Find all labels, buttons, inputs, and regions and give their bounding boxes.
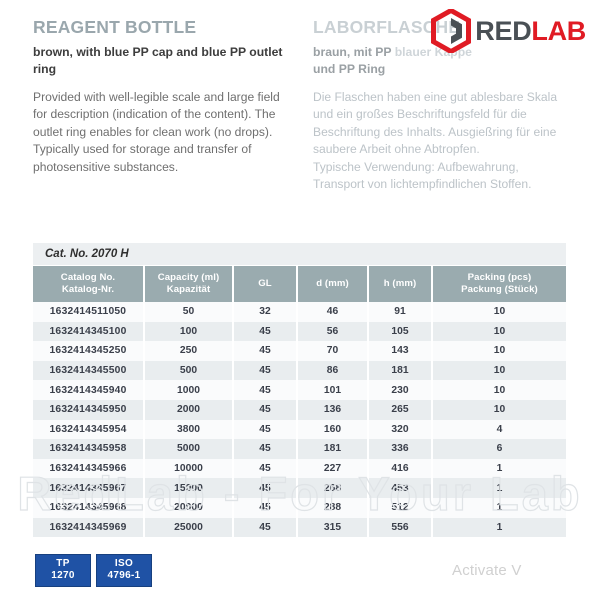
table-cell-2: 45 [233,478,297,498]
table-cell-1: 20000 [144,498,233,518]
logo-word-red: RED [475,16,531,46]
table-cell-3: 268 [297,478,368,498]
table-cell-1: 50 [144,302,233,322]
table-cell-1: 100 [144,322,233,342]
table-row: 16324143459585000451813366 [33,439,566,459]
table-cell-0: 1632414511050 [33,302,144,322]
table-row: 163241434596715000452684531 [33,478,566,498]
catalog-page: RedLab - For Your Lab REDLAB REAGENT BOT… [0,0,600,600]
table-cell-4: 91 [368,302,432,322]
table-column-header-5: Packing (pcs)Packung (Stück) [432,266,566,302]
table-cell-5: 1 [432,478,566,498]
table-cell-0: 1632414345958 [33,439,144,459]
product-description-en: Provided with well-legible scale and lar… [33,89,287,176]
table-column-header-1: Capacity (ml)Kapazität [144,266,233,302]
table-cell-0: 1632414345966 [33,459,144,479]
table-column-header-4: h (mm) [368,266,432,302]
table-cell-1: 1000 [144,380,233,400]
table-cell-4: 320 [368,420,432,440]
table-cell-5: 6 [432,439,566,459]
table-header-row: Catalog No.Katalog-Nr.Capacity (ml)Kapaz… [33,266,566,302]
table-cell-4: 336 [368,439,432,459]
table-cell-5: 10 [432,322,566,342]
table-column-header-0: Catalog No.Katalog-Nr. [33,266,144,302]
table-header: Catalog No.Katalog-Nr.Capacity (ml)Kapaz… [33,266,566,302]
table-cell-2: 45 [233,459,297,479]
specification-table: Cat. No. 2070 H Catalog No.Katalog-Nr.Ca… [33,243,566,537]
table-row: 163241434594010004510123010 [33,380,566,400]
table-cell-5: 1 [432,498,566,518]
standard-badge-0: TP1270 [35,554,91,587]
table-cell-5: 10 [432,361,566,381]
table-cell-3: 46 [297,302,368,322]
product-title-en: REAGENT BOTTLE [33,18,287,37]
table-column-header-3: d (mm) [297,266,368,302]
table-column-header-2: GL [233,266,297,302]
standard-badge-1: ISO4796-1 [96,554,152,587]
table-cell-0: 1632414345954 [33,420,144,440]
table-cell-1: 5000 [144,439,233,459]
table-cell-1: 2000 [144,400,233,420]
logo-wordmark: REDLAB [475,18,586,45]
table-cell-4: 556 [368,518,432,538]
table-row: 1632414345250250457014310 [33,341,566,361]
table-cell-0: 1632414345967 [33,478,144,498]
table-cell-5: 1 [432,459,566,479]
table-cell-0: 1632414345968 [33,498,144,518]
redlab-logo: REDLAB [431,9,586,53]
table-cell-0: 1632414345500 [33,361,144,381]
hexagon-cube-icon [431,9,471,53]
table-caption: Cat. No. 2070 H [33,243,566,266]
table-cell-5: 10 [432,341,566,361]
table-cell-4: 143 [368,341,432,361]
product-description-de: Die Flaschen haben eine gut ablesbare Sk… [313,89,567,193]
table-cell-2: 45 [233,420,297,440]
table-cell-4: 105 [368,322,432,342]
table-cell-3: 86 [297,361,368,381]
table-row: 1632414345100100455610510 [33,322,566,342]
standards-badges: TP1270ISO4796-1 [35,554,152,587]
table-body: 1632414511050503246911016324143451001004… [33,302,566,537]
table-cell-3: 315 [297,518,368,538]
table-cell-4: 453 [368,478,432,498]
description-column-english: REAGENT BOTTLE brown, with blue PP cap a… [33,18,287,193]
specification-table-container: Cat. No. 2070 H Catalog No.Katalog-Nr.Ca… [33,243,566,537]
subtitle-de-part1: braun, mit PP [313,45,395,59]
table-cell-2: 45 [233,439,297,459]
table-cell-3: 288 [297,498,368,518]
logo-word-lab: LAB [531,16,586,46]
table-cell-2: 45 [233,322,297,342]
table-cell-3: 227 [297,459,368,479]
table-cell-3: 181 [297,439,368,459]
table-cell-2: 45 [233,518,297,538]
table-cell-0: 1632414345940 [33,380,144,400]
table-cell-2: 45 [233,341,297,361]
product-subtitle-en: brown, with blue PP cap and blue PP outl… [33,44,287,78]
table-cell-5: 10 [432,400,566,420]
table-row: 1632414345500500458618110 [33,361,566,381]
table-cell-0: 1632414345950 [33,400,144,420]
table-cell-3: 70 [297,341,368,361]
table-cell-4: 265 [368,400,432,420]
table-cell-1: 10000 [144,459,233,479]
table-cell-1: 25000 [144,518,233,538]
table-cell-5: 1 [432,518,566,538]
table-row: 163241434596820000452885121 [33,498,566,518]
subtitle-de-line2: und PP Ring [313,62,385,76]
table-cell-1: 15000 [144,478,233,498]
table-cell-0: 1632414345100 [33,322,144,342]
windows-activation-notice: Activate V [452,562,522,579]
table-row: 163241434596610000452274161 [33,459,566,479]
table-cell-0: 1632414345250 [33,341,144,361]
table-cell-5: 10 [432,380,566,400]
table-cell-1: 3800 [144,420,233,440]
table-cell-2: 45 [233,498,297,518]
table-cell-2: 45 [233,361,297,381]
table-cell-4: 181 [368,361,432,381]
table-row: 163241434595020004513626510 [33,400,566,420]
table-cell-5: 10 [432,302,566,322]
table-cell-2: 45 [233,380,297,400]
table-cell-1: 250 [144,341,233,361]
table-cell-3: 136 [297,400,368,420]
table-cell-5: 4 [432,420,566,440]
table-cell-3: 160 [297,420,368,440]
table-cell-4: 512 [368,498,432,518]
table-cell-2: 32 [233,302,297,322]
table-row: 16324143459543800451603204 [33,420,566,440]
table-row: 163241434596925000453155561 [33,518,566,538]
table-cell-0: 1632414345969 [33,518,144,538]
table-cell-2: 45 [233,400,297,420]
table-cell-3: 56 [297,322,368,342]
table-cell-3: 101 [297,380,368,400]
table-row: 16324145110505032469110 [33,302,566,322]
table-cell-1: 500 [144,361,233,381]
table-cell-4: 230 [368,380,432,400]
table-cell-4: 416 [368,459,432,479]
